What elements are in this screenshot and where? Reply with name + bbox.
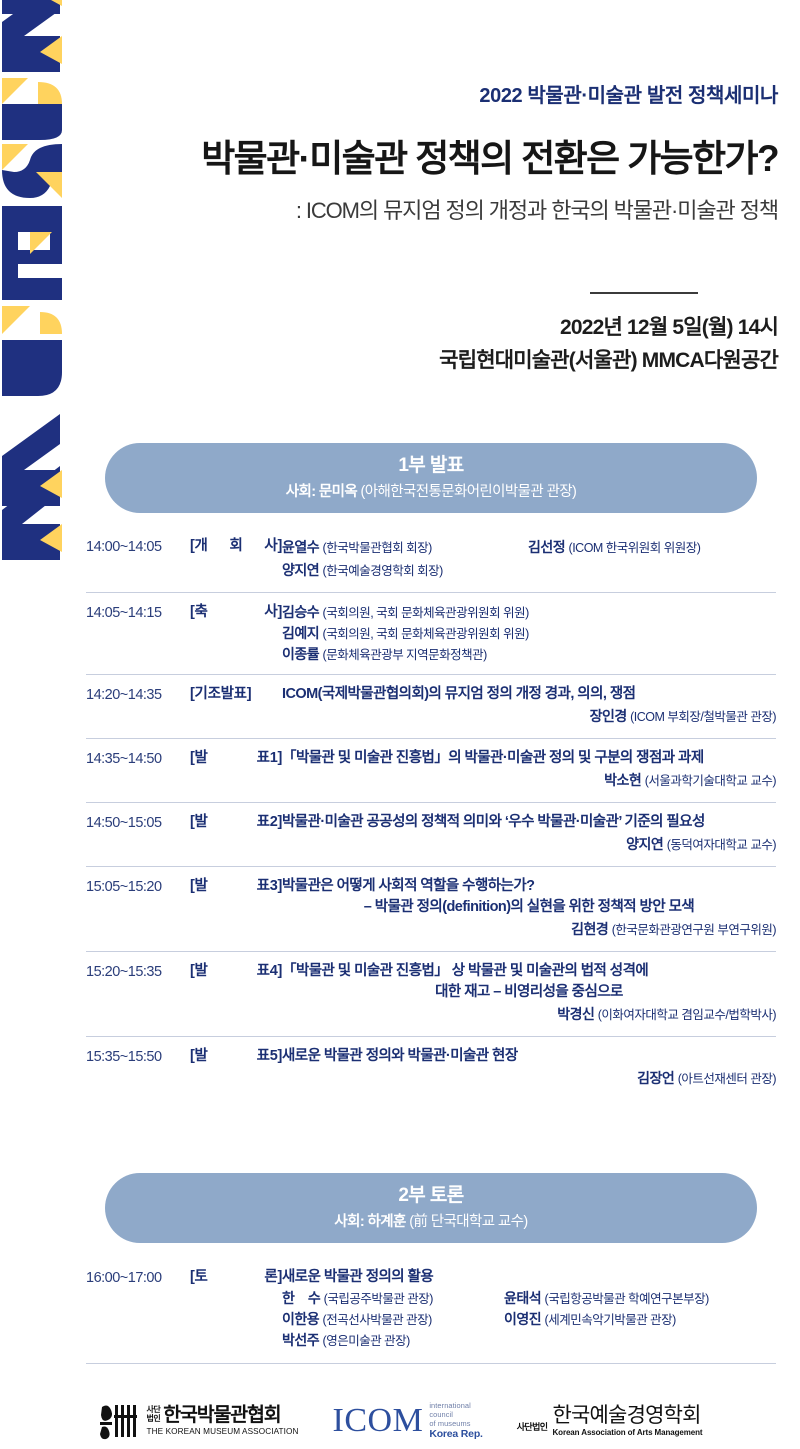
list-item: 장인경 (ICOM 부회장/철박물관 관장) — [590, 708, 776, 724]
kma-name-korean: 한국박물관협회 — [163, 1406, 280, 1426]
row-tag: [발 표1] — [190, 748, 282, 769]
list-item: 이영진 (세계민속악기박물관 관장) — [504, 1309, 776, 1330]
row-time: 16:00~17:00 — [86, 1267, 190, 1289]
section-header-part2: 2부 토론 사회: 하계훈 (前 단국대학교 교수) — [105, 1173, 757, 1243]
host-label-part1: 사회: — [286, 484, 316, 500]
list-item: 이종률 (문화체육관광부 지역문화정책관) — [282, 644, 776, 665]
row-topic-line2: – 박물관 정의(definition)의 실현을 위한 정책적 방안 모색 — [190, 897, 776, 918]
event-venue: 국립현대미술관(서울관) MMCA다원공간 — [90, 345, 778, 378]
section-host-part2: 사회: 하계훈 (前 단국대학교 교수) — [334, 1214, 527, 1231]
row-tag: [개 회 사] — [190, 536, 282, 557]
row-topic: ICOM(국제박물관협의회)의 뮤지엄 정의 개정 경과, 의의, 쟁점 — [282, 684, 635, 705]
section-title-part2: 2부 토론 — [398, 1185, 463, 1208]
row-time: 15:35~15:50 — [86, 1046, 190, 1068]
page-title: 박물관·미술관 정책의 전환은 가능한가? — [90, 137, 778, 181]
row-topic: 박물관은 어떻게 사회적 역할을 수행하는가? — [282, 876, 534, 897]
table-row: 15:20~15:35 [발 표4] 「박물관 및 미술관 진흥법」 상 박물관… — [86, 951, 776, 1036]
museum-wordmark-logo — [0, 0, 88, 560]
row-time: 14:00~14:05 — [86, 536, 190, 558]
event-details: 2022년 12월 5일(월) 14시 국립현대미술관(서울관) MMCA다원공… — [90, 312, 790, 377]
kaam-name-korean: 한국예술경영학회 — [552, 1405, 702, 1426]
list-item: 박선주 (영은미술관 관장) — [282, 1330, 504, 1351]
table-row: 15:35~15:50 [발 표5] 새로운 박물관 정의와 박물관·미술관 현… — [86, 1036, 776, 1100]
icom-line2: council — [429, 1410, 482, 1419]
table-row: 14:05~14:15 [축 사] 김승수 (국회의원, 국회 문화체육관광위원… — [86, 592, 776, 674]
list-item: 윤열수 (한국박물관협회 회장) — [282, 539, 432, 555]
host-affil-part2: (前 단국대학교 교수) — [409, 1214, 527, 1230]
icom-line1: international — [429, 1401, 482, 1410]
row-people: 장인경 (ICOM 부회장/철박물관 관장) — [190, 705, 776, 729]
event-datetime: 2022년 12월 5일(월) 14시 — [90, 312, 778, 345]
list-item: 윤태석 (국립항공박물관 학예연구본부장) — [504, 1288, 776, 1309]
icom-korea-label: Korea Rep. — [429, 1428, 482, 1441]
list-item: 김장언 (아트선재센터 관장) — [637, 1070, 776, 1086]
icom-wordmark: ICOM — [333, 1404, 424, 1438]
table-row: 14:20~14:35 [기조발표] ICOM(국제박물관협의회)의 뮤지엄 정… — [86, 674, 776, 738]
poster-header: 2022 박물관·미술관 발전 정책세미나 박물관·미술관 정책의 전환은 가능… — [90, 84, 790, 225]
list-item: 박경신 (이화여자대학교 겸임교수/법학박사) — [557, 1006, 776, 1022]
kaam-name-english: Korean Association of Arts Management — [552, 1429, 702, 1437]
row-time: 14:20~14:35 — [86, 684, 190, 706]
list-item: 양지연 (동덕여자대학교 교수) — [626, 836, 776, 852]
row-topic: 새로운 박물관 정의의 활용 — [282, 1267, 433, 1288]
row-people: 양지연 (동덕여자대학교 교수) — [190, 833, 776, 857]
korean-arts-management-logo: 사단법인 한국예술경영학회 Korean Association of Arts… — [517, 1405, 703, 1437]
row-topic: 「박물관 및 미술관 진흥법」의 박물관·미술관 정의 및 구분의 쟁점과 과제 — [282, 748, 704, 769]
row-people: 박경신 (이화여자대학교 겸임교수/법학박사) — [190, 1003, 776, 1027]
footer-logos: 사단 법인 한국박물관협회 THE KOREAN MUSEUM ASSOCIAT… — [0, 1392, 800, 1449]
table-row: 14:35~14:50 [발 표1] 「박물관 및 미술관 진흥법」의 박물관·… — [86, 738, 776, 802]
icom-line3: of museums — [429, 1419, 482, 1428]
kma-corp-type: 사단 법인 — [147, 1406, 161, 1425]
row-people: 박소현 (서울과학기술대학교 교수) — [190, 769, 776, 793]
host-name-part2: 하계훈 — [368, 1214, 406, 1230]
list-item: 김승수 (국회의원, 국회 문화체육관광위원회 위원) — [282, 602, 529, 622]
host-label-part2: 사회: — [334, 1214, 364, 1230]
row-people: 김현경 (한국문화관광연구원 부연구위원) — [190, 918, 776, 942]
list-item: 한 수 (국립공주박물관 관장) — [282, 1288, 504, 1309]
list-item: 김선정 (ICOM 한국위원회 위원장) — [528, 539, 700, 555]
row-time: 15:20~15:35 — [86, 961, 190, 983]
seminar-poster: 2022 박물관·미술관 발전 정책세미나 박물관·미술관 정책의 전환은 가능… — [0, 0, 800, 1449]
event-kicker: 2022 박물관·미술관 발전 정책세미나 — [90, 84, 778, 109]
table-row: 14:50~15:05 [발 표2] 박물관·미술관 공공성의 정책적 의미와 … — [86, 802, 776, 866]
row-tag: [발 표2] — [190, 812, 282, 833]
row-topic: 새로운 박물관 정의와 박물관·미술관 현장 — [282, 1046, 518, 1067]
table-row: 16:00~17:00 [토 론] 새로운 박물관 정의의 활용 한 수 (국 — [86, 1258, 776, 1364]
section-title-part1: 1부 발표 — [398, 455, 463, 478]
kma-emblem-icon — [98, 1401, 140, 1441]
row-tag: [발 표3] — [190, 876, 282, 897]
section-header-part1: 1부 발표 사회: 문미옥 (아해한국전통문화어린이박물관 관장) — [105, 443, 757, 513]
row-topic-line2: 대한 재고 – 비영리성을 중심으로 — [190, 982, 776, 1003]
row-tag: [축 사] — [190, 602, 282, 623]
list-item: 이한용 (전곡선사박물관 관장) — [282, 1309, 504, 1330]
list-item: 김현경 (한국문화관광연구원 부연구위원) — [571, 921, 776, 937]
row-time: 14:50~15:05 — [86, 812, 190, 834]
icom-korea-logo: ICOM international council of museums Ko… — [333, 1401, 483, 1442]
panelist-grid: 한 수 (국립공주박물관 관장) 이한용 (전곡선사박물관 관장) 박선주 (영… — [190, 1288, 776, 1351]
kaam-corp-type: 사단법인 — [517, 1420, 548, 1437]
page-subtitle: : ICOM의 뮤지엄 정의 개정과 한국의 박물관·미술관 정책 — [90, 197, 778, 226]
row-time: 15:05~15:20 — [86, 876, 190, 898]
row-topic: 박물관·미술관 공공성의 정책적 의미와 ‘우수 박물관·미술관’ 기준의 필요… — [282, 812, 705, 833]
row-tag: [기조발표] — [190, 684, 282, 705]
korean-museum-association-logo: 사단 법인 한국박물관협회 THE KOREAN MUSEUM ASSOCIAT… — [98, 1401, 299, 1441]
row-topic: 「박물관 및 미술관 진흥법」 상 박물관 및 미술관의 법적 성격에 — [282, 961, 648, 982]
host-affil-part1: (아해한국전통문화어린이박물관 관장) — [361, 484, 577, 500]
row-people: 김장언 (아트선재센터 관장) — [190, 1067, 776, 1091]
table-row: 15:05~15:20 [발 표3] 박물관은 어떻게 사회적 역할을 수행하는… — [86, 866, 776, 951]
list-item: 김예지 (국회의원, 국회 문화체육관광위원회 위원) — [282, 623, 776, 644]
header-divider — [590, 292, 698, 294]
section-host-part1: 사회: 문미옥 (아해한국전통문화어린이박물관 관장) — [286, 484, 577, 501]
list-item: 박소현 (서울과학기술대학교 교수) — [604, 772, 776, 788]
row-people: 김예지 (국회의원, 국회 문화체육관광위원회 위원) 이종률 (문화체육관광부… — [190, 623, 776, 665]
row-people: 양지연 (한국예술경영학회 회장) — [190, 559, 776, 583]
kma-name-english: THE KOREAN MUSEUM ASSOCIATION — [147, 1428, 299, 1436]
table-row: 14:00~14:05 [개 회 사] 윤열수 (한국박물관협회 회장) — [86, 527, 776, 592]
row-time: 14:35~14:50 — [86, 748, 190, 770]
program-table-part1: 14:00~14:05 [개 회 사] 윤열수 (한국박물관협회 회장) — [86, 527, 776, 1100]
row-tag: [토 론] — [190, 1267, 282, 1288]
program-table-part2: 16:00~17:00 [토 론] 새로운 박물관 정의의 활용 한 수 (국 — [86, 1258, 776, 1364]
row-time: 14:05~14:15 — [86, 602, 190, 624]
list-item: 양지연 (한국예술경영학회 회장) — [282, 562, 443, 578]
row-tag: [발 표4] — [190, 961, 282, 982]
row-tag: [발 표5] — [190, 1046, 282, 1067]
host-name-part1: 문미옥 — [319, 484, 357, 500]
